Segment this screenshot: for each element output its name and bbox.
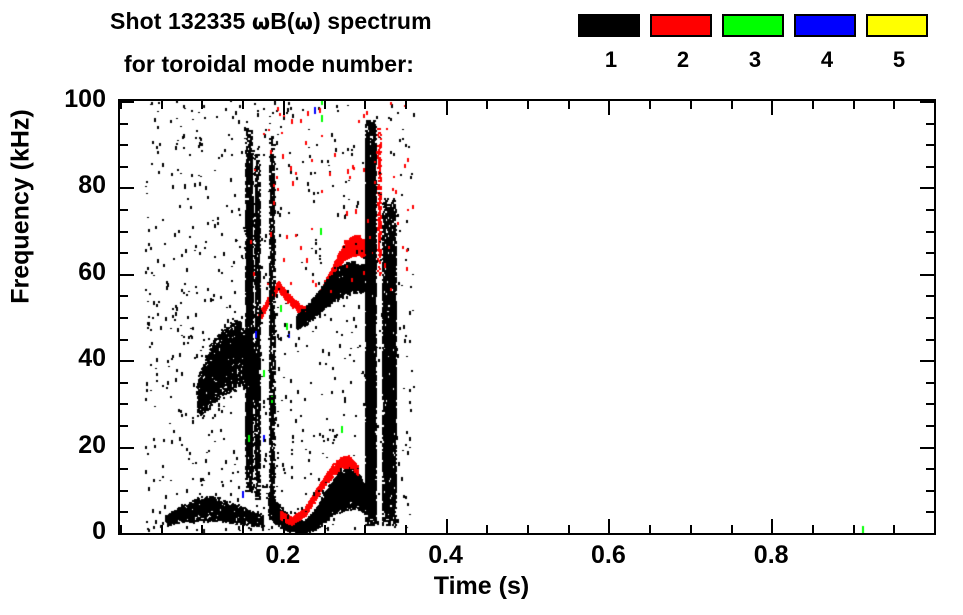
legend-label-mode-2: 2 [650, 49, 716, 71]
omega-symbol-1: ω [252, 10, 270, 34]
y-tick-15 [120, 468, 128, 470]
figure-title-line-1: Shot 132335 ωB(ω) spectrum [110, 8, 432, 35]
y-tick-right-0 [920, 533, 934, 535]
x-tick-0.5 [527, 525, 529, 533]
y-tick-right-45 [926, 339, 934, 341]
y-tick-0 [120, 533, 134, 535]
y-tick-100 [120, 101, 134, 103]
y-tick-85 [120, 166, 128, 168]
x-tick-top-0.2 [283, 101, 285, 115]
x-tick-0.65 [649, 525, 651, 533]
y-tick-label-20: 20 [0, 431, 106, 460]
y-tick-right-40 [920, 360, 934, 362]
x-tick-0.55 [568, 525, 570, 533]
x-tick-top-0.95 [893, 101, 895, 109]
y-tick-label-0: 0 [0, 517, 106, 546]
x-tick-top-0.65 [649, 101, 651, 109]
legend-item-mode-4: 4 [794, 14, 860, 71]
x-tick-label-0.4: 0.4 [401, 541, 491, 570]
omega-symbol-2: ω [295, 10, 313, 34]
x-tick-0.7 [690, 525, 692, 533]
x-tick-top-0.45 [486, 101, 488, 109]
legend-swatch-mode-5 [866, 14, 928, 37]
legend-label-mode-1: 1 [578, 49, 644, 71]
y-tick-75 [120, 209, 128, 211]
mode-legend: 12345 [578, 14, 948, 92]
y-tick-right-35 [926, 382, 934, 384]
x-tick-0.3 [364, 525, 366, 533]
y-tick-60 [120, 274, 134, 276]
x-tick-top-0.1 [201, 101, 203, 109]
y-tick-95 [120, 123, 128, 125]
x-tick-0.35 [405, 525, 407, 533]
y-axis-title: Frequency (kHz) [7, 77, 36, 337]
x-tick-top-0.15 [242, 101, 244, 109]
y-tick-right-15 [926, 468, 934, 470]
x-tick-top-0.05 [161, 101, 163, 109]
y-tick-label-40: 40 [0, 344, 106, 373]
y-tick-70 [120, 231, 128, 233]
legend-item-mode-3: 3 [722, 14, 788, 71]
y-tick-35 [120, 382, 128, 384]
x-tick-top-0.5 [527, 101, 529, 109]
legend-label-mode-4: 4 [794, 49, 860, 71]
spectrogram-canvas [120, 101, 934, 533]
y-tick-right-85 [926, 166, 934, 168]
y-tick-right-100 [920, 101, 934, 103]
x-tick-0.8 [771, 519, 773, 533]
y-tick-right-25 [926, 425, 934, 427]
x-tick-label-0.8: 0.8 [726, 541, 816, 570]
y-tick-30 [120, 403, 128, 405]
x-tick-0.85 [812, 525, 814, 533]
x-tick-0.6 [608, 519, 610, 533]
y-tick-right-55 [926, 295, 934, 297]
legend-item-mode-2: 2 [650, 14, 716, 71]
x-tick-0.15 [242, 525, 244, 533]
x-tick-top-1 [934, 101, 936, 109]
x-tick-0.75 [731, 525, 733, 533]
y-tick-90 [120, 144, 128, 146]
x-tick-0.2 [283, 519, 285, 533]
y-tick-right-90 [926, 144, 934, 146]
x-tick-0.05 [161, 525, 163, 533]
y-tick-50 [120, 317, 128, 319]
y-tick-right-20 [920, 447, 934, 449]
legend-swatch-mode-2 [650, 14, 712, 37]
legend-swatch-mode-4 [794, 14, 856, 37]
x-tick-0.45 [486, 525, 488, 533]
figure-title-line-2: for toroidal mode number: [124, 51, 414, 78]
x-tick-label-0.6: 0.6 [563, 541, 653, 570]
y-tick-10 [120, 490, 128, 492]
y-tick-right-10 [926, 490, 934, 492]
x-tick-top-0.25 [324, 101, 326, 109]
x-tick-0.25 [324, 525, 326, 533]
x-tick-top-0.4 [446, 101, 448, 115]
legend-swatch-mode-1 [578, 14, 640, 37]
spectrogram-figure: Shot 132335 ωB(ω) spectrum for toroidal … [0, 0, 963, 615]
y-tick-right-75 [926, 209, 934, 211]
x-tick-0.9 [853, 525, 855, 533]
x-tick-top-0.8 [771, 101, 773, 115]
x-tick-top-0.9 [853, 101, 855, 109]
y-tick-25 [120, 425, 128, 427]
x-tick-top-0.35 [405, 101, 407, 109]
legend-swatch-mode-3 [722, 14, 784, 37]
x-tick-0.95 [893, 525, 895, 533]
y-tick-80 [120, 187, 134, 189]
x-tick-1 [934, 525, 936, 533]
x-tick-top-0.3 [364, 101, 366, 109]
y-tick-right-5 [926, 511, 934, 513]
y-tick-5 [120, 511, 128, 513]
x-tick-top-0.6 [608, 101, 610, 115]
y-tick-right-30 [926, 403, 934, 405]
x-tick-0.4 [446, 519, 448, 533]
y-tick-55 [120, 295, 128, 297]
y-tick-20 [120, 447, 134, 449]
title-shot-text: Shot 132335 [110, 8, 252, 34]
y-tick-right-60 [920, 274, 934, 276]
x-tick-top-0.75 [731, 101, 733, 109]
y-tick-right-50 [926, 317, 934, 319]
y-tick-65 [120, 252, 128, 254]
title-b-open: B( [270, 8, 294, 34]
title-spectrum-text: ) spectrum [313, 8, 432, 34]
y-tick-45 [120, 339, 128, 341]
x-axis-title: Time (s) [0, 572, 963, 601]
legend-label-mode-3: 3 [722, 49, 788, 71]
legend-label-mode-5: 5 [866, 49, 932, 71]
x-tick-top-0.55 [568, 101, 570, 109]
plot-frame [118, 99, 936, 535]
y-tick-40 [120, 360, 134, 362]
y-tick-right-70 [926, 231, 934, 233]
y-tick-right-95 [926, 123, 934, 125]
x-tick-0.1 [201, 525, 203, 533]
x-tick-label-0.2: 0.2 [238, 541, 328, 570]
x-tick-top-0.7 [690, 101, 692, 109]
legend-item-mode-1: 1 [578, 14, 644, 71]
legend-item-mode-5: 5 [866, 14, 932, 71]
y-tick-right-80 [920, 187, 934, 189]
x-tick-0 [120, 525, 122, 533]
y-tick-right-65 [926, 252, 934, 254]
x-tick-top-0.85 [812, 101, 814, 109]
